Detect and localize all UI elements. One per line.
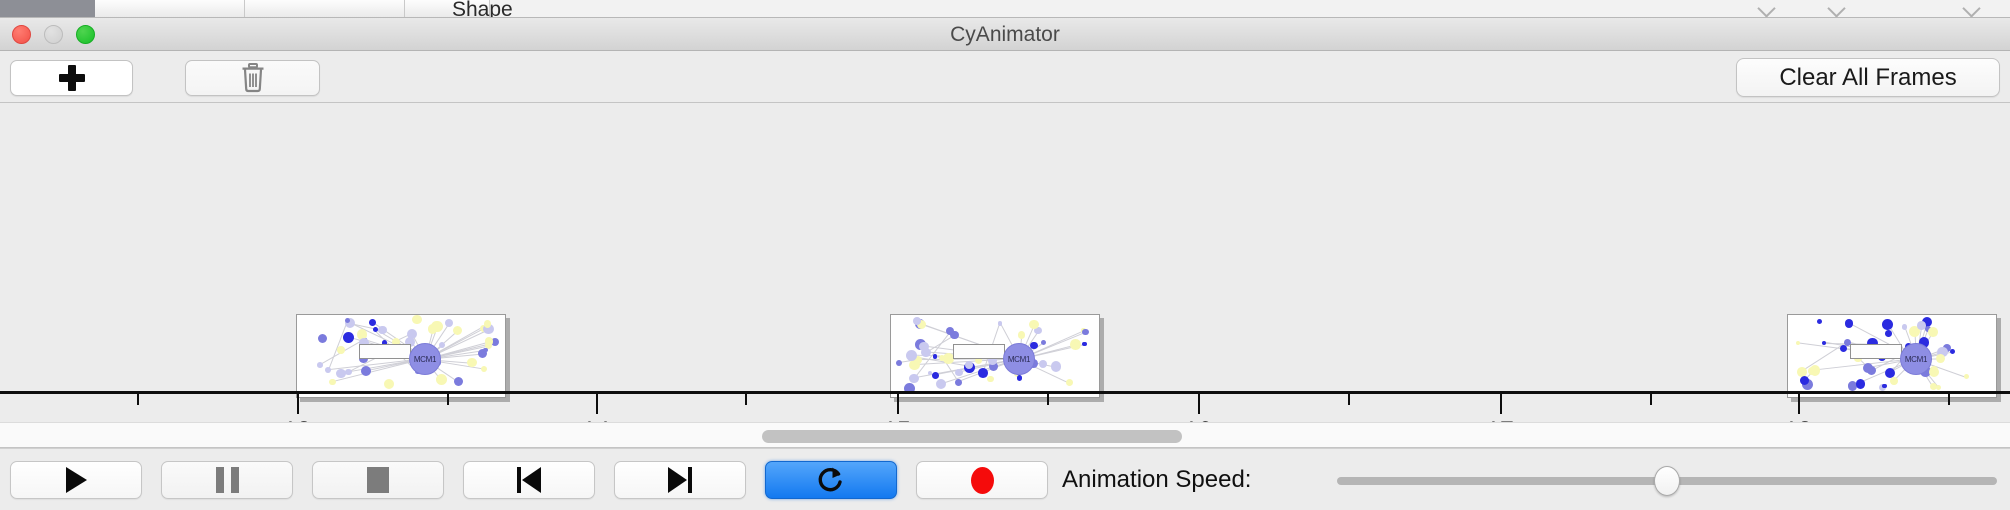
axis-tick-minor — [1948, 394, 1950, 405]
graph-node — [1882, 384, 1887, 389]
graph-node — [1039, 360, 1047, 368]
graph-node — [1082, 329, 1088, 335]
graph-node — [343, 332, 354, 343]
skip-to-end-button[interactable] — [614, 461, 746, 499]
frames-layer: MCM1MCM1MCM1 — [0, 103, 2010, 393]
loop-icon — [817, 465, 845, 495]
record-icon — [971, 467, 994, 494]
playback-control-bar: Animation Speed: — [0, 448, 2010, 510]
graph-node — [998, 321, 1002, 325]
graph-node — [361, 366, 371, 376]
graph-node — [1840, 345, 1847, 352]
add-frame-button[interactable] — [10, 60, 133, 96]
animation-speed-label: Animation Speed: — [1062, 461, 1251, 499]
axis-tick-major — [596, 394, 598, 414]
graph-node — [909, 360, 920, 371]
graph-node — [378, 326, 387, 335]
skip-back-icon — [517, 467, 541, 493]
axis-line — [0, 391, 2010, 394]
graph-hub-node: MCM1 — [1900, 343, 1932, 375]
graph-node — [483, 348, 487, 352]
graph-node — [936, 379, 946, 389]
graph-node — [453, 326, 462, 335]
graph-node — [1863, 363, 1873, 373]
graph-node — [933, 354, 937, 358]
play-icon — [66, 467, 87, 493]
record-button[interactable] — [916, 461, 1048, 499]
graph-node — [445, 319, 453, 327]
graph-tooltip — [1850, 344, 1902, 359]
graph-node — [318, 334, 327, 343]
graph-node — [1018, 331, 1025, 338]
frame-thumbnail[interactable]: MCM1 — [890, 314, 1100, 398]
axis-tick-minor — [745, 394, 747, 405]
graph-node — [336, 369, 345, 378]
graph-node — [1051, 361, 1062, 372]
pause-icon — [216, 467, 239, 493]
play-button[interactable] — [10, 461, 142, 499]
graph-node — [481, 366, 487, 372]
graph-hub-node: MCM1 — [409, 343, 441, 375]
chevron-icon — [1962, 0, 1980, 18]
graph-node — [345, 369, 352, 376]
graph-node — [913, 317, 921, 325]
graph-node — [921, 348, 931, 358]
chevron-icon — [1827, 0, 1845, 18]
graph-node — [1928, 327, 1938, 337]
background-tab — [245, 0, 405, 18]
frame-thumbnail[interactable]: MCM1 — [1787, 314, 1997, 398]
pause-button[interactable] — [161, 461, 293, 499]
graph-node — [412, 315, 422, 324]
graph-node — [369, 319, 376, 326]
background-window-strip: Shape — [0, 0, 2010, 18]
graph-node — [1029, 320, 1038, 329]
clear-all-frames-button[interactable]: Clear All Frames — [1736, 58, 2000, 97]
graph-node — [337, 346, 345, 354]
graph-tooltip — [953, 344, 1005, 359]
graph-node — [987, 376, 994, 383]
graph-node — [454, 377, 463, 386]
graph-node — [896, 360, 902, 366]
graph-node — [1082, 342, 1086, 346]
axis-tick-major — [297, 394, 299, 414]
graph-node — [955, 379, 962, 386]
graph-edge — [328, 320, 348, 370]
graph-node — [317, 362, 323, 368]
axis-tick-minor — [1348, 394, 1350, 405]
graph-node — [928, 371, 932, 375]
graph-node — [485, 337, 493, 345]
horizontal-scrollbar[interactable] — [0, 422, 2010, 448]
graph-node — [1845, 319, 1854, 328]
stop-icon — [367, 467, 389, 493]
graph-node — [329, 379, 335, 385]
graph-node — [1885, 368, 1895, 378]
graph-node — [1817, 319, 1822, 324]
graph-node — [373, 327, 378, 332]
axis-tick-minor — [1650, 394, 1652, 405]
graph-node — [1885, 330, 1892, 337]
graph-node — [1017, 375, 1023, 381]
slider-thumb[interactable] — [1654, 466, 1680, 496]
chevron-icon — [1757, 0, 1775, 18]
graph-node — [1936, 385, 1941, 390]
background-window-text: Shape — [452, 0, 513, 18]
delete-frame-button[interactable] — [185, 60, 320, 96]
axis-tick-minor — [137, 394, 139, 405]
title-bar: CyAnimator — [0, 18, 2010, 51]
trash-icon — [240, 63, 266, 93]
graph-node — [1070, 339, 1080, 349]
plus-icon — [59, 65, 85, 91]
stop-button[interactable] — [312, 461, 444, 499]
axis-tick-major — [897, 394, 899, 414]
toolbar: Clear All Frames — [0, 51, 2010, 103]
axis-tick-major — [1798, 394, 1800, 414]
axis-tick-minor — [1047, 394, 1049, 405]
graph-node — [484, 320, 491, 327]
graph-node — [1936, 354, 1945, 363]
background-tab — [95, 0, 245, 18]
graph-node — [1856, 379, 1865, 388]
axis-tick-major — [1198, 394, 1200, 414]
graph-node — [384, 379, 394, 389]
graph-node — [1890, 377, 1897, 384]
animation-speed-slider[interactable] — [1337, 477, 1997, 485]
loop-button[interactable] — [765, 461, 897, 499]
cyanimator-window: CyAnimator Clear All Frames MCM1MCM1MCM1… — [0, 18, 2010, 510]
graph-node — [1796, 341, 1800, 345]
timeline-panel[interactable]: MCM1MCM1MCM1 12131415161718 Seconds — [0, 103, 2010, 448]
axis-tick-minor — [447, 394, 449, 405]
graph-hub-node: MCM1 — [1003, 343, 1035, 375]
graph-node — [345, 318, 350, 323]
network-graph-preview: MCM1 — [297, 315, 505, 397]
graph-node — [939, 355, 945, 361]
graph-node — [325, 367, 331, 373]
graph-node — [909, 374, 919, 384]
graph-node — [1066, 379, 1073, 386]
graph-node — [932, 372, 939, 379]
network-graph-preview: MCM1 — [891, 315, 1099, 397]
graph-node — [955, 369, 962, 376]
frame-thumbnail[interactable]: MCM1 — [296, 314, 506, 398]
graph-node — [1810, 365, 1820, 375]
window-title: CyAnimator — [0, 18, 2010, 51]
graph-node — [428, 324, 437, 333]
graph-node — [1882, 319, 1893, 330]
graph-node — [1964, 374, 1969, 379]
graph-node — [1041, 340, 1046, 345]
axis-tick-major — [1500, 394, 1502, 414]
graph-node — [1930, 366, 1939, 375]
background-toolbar-dark — [0, 0, 95, 18]
scrollbar-thumb[interactable] — [762, 430, 1182, 443]
skip-to-start-button[interactable] — [463, 461, 595, 499]
graph-node — [467, 358, 476, 367]
network-graph-preview: MCM1 — [1788, 315, 1996, 397]
graph-node — [1797, 367, 1807, 377]
skip-forward-icon — [668, 467, 692, 493]
clear-all-frames-label: Clear All Frames — [1779, 64, 1956, 92]
graph-tooltip — [359, 344, 411, 359]
graph-node — [436, 374, 447, 385]
